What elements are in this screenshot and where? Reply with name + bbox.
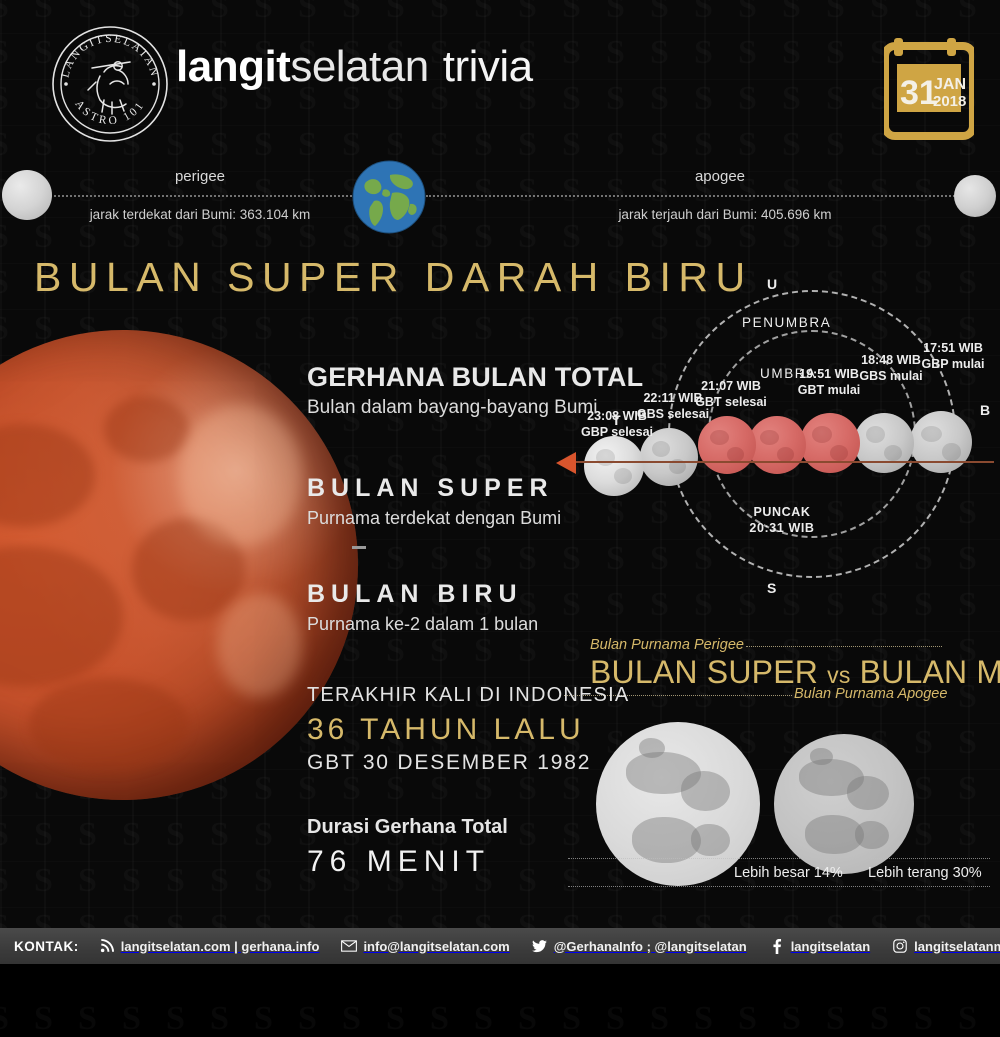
- footer-link-email[interactable]: info@langitselatan.com: [341, 938, 531, 954]
- page-title: BULAN SUPER DARAH BIRU: [34, 254, 753, 301]
- earth-globe-icon: [352, 160, 426, 234]
- caption-lebih-besar: Lebih besar 14%: [734, 865, 843, 881]
- calendar-month: JAN: [934, 76, 966, 93]
- footer-link-twitter[interactable]: @GerhanaInfo ; @langitselatan: [532, 938, 769, 954]
- brand-langit: langit: [176, 42, 290, 91]
- duration-label: Durasi Gerhana Total: [307, 816, 508, 839]
- peak-label: PUNCAK: [734, 504, 830, 520]
- caption-lebih-terang: Lebih terang 30%: [868, 865, 982, 881]
- bullet-bulan-super: BULAN SUPER Purnama terdekat dengan Bumi: [307, 474, 561, 529]
- eclipse-path-diagram: PENUMBRA UMBRA U S T B 23:08 WIB GBP sel…: [556, 268, 1000, 608]
- footer-text-instagram: langitselatanmedia: [914, 939, 1000, 954]
- moon-phase-peak: [748, 416, 806, 474]
- phase-3-event: GBT selesai: [686, 394, 776, 410]
- compass-south: S: [767, 580, 777, 596]
- calendar-year: 2018: [933, 93, 966, 110]
- rss-icon: [99, 938, 115, 954]
- perigee-sublabel: jarak terdekat dari Bumi: 363.104 km: [60, 207, 340, 222]
- footer-text-website: langitselatan.com | gerhana.info: [121, 939, 320, 954]
- phase-6-event: GBP mulai: [908, 356, 998, 372]
- bullet-2-sub: Purnama terdekat dengan Bumi: [307, 508, 561, 529]
- apogee-italic-label: Bulan Purnama Apogee: [794, 686, 947, 702]
- phase-3-time: 21:07 WIB: [686, 378, 776, 394]
- compass-north: U: [767, 276, 778, 292]
- moon-phase-5: [854, 413, 914, 473]
- separator-dash: [352, 546, 366, 549]
- direction-arrow-icon: [556, 452, 576, 474]
- compass-east: B: [980, 402, 991, 418]
- footer-text-twitter: @GerhanaInfo ; @langitselatan: [554, 939, 747, 954]
- last-occurrence-line1: TERAKHIR KALI DI INDONESIA: [307, 684, 629, 707]
- minimoon-illustration: [774, 734, 914, 874]
- last-occurrence-block: TERAKHIR KALI DI INDONESIA 36 TAHUN LALU…: [307, 684, 629, 775]
- bullet-1-heading: GERHANA BULAN TOTAL: [307, 362, 643, 393]
- penumbra-label: PENUMBRA: [742, 315, 831, 330]
- duration-block: Durasi Gerhana Total 76 MENIT: [307, 816, 508, 879]
- bullet-3-heading: BULAN BIRU: [307, 580, 538, 609]
- footer-text-facebook: langitselatan: [791, 939, 870, 954]
- phase-4-event: GBT mulai: [784, 382, 874, 398]
- footer-link-facebook[interactable]: langitselatan: [769, 938, 892, 954]
- dotted-rule-caption-top: [568, 858, 990, 859]
- phase-label-3: 21:07 WIB GBT selesai: [686, 378, 776, 410]
- vs-title-vs: vs: [827, 662, 850, 688]
- bullet-bulan-biru: BULAN BIRU Purnama ke-2 dalam 1 bulan: [307, 580, 538, 635]
- bullet-gerhana-bulan-total: GERHANA BULAN TOTAL Bulan dalam bayang-b…: [307, 362, 643, 419]
- peak-time: 20:31 WIB: [734, 520, 830, 536]
- footer-contact-bar: KONTAK: langitselatan.com | gerhana.info…: [0, 928, 1000, 964]
- last-occurrence-line3: GBT 30 DESEMBER 1982: [307, 751, 629, 775]
- footer-link-website[interactable]: langitselatan.com | gerhana.info: [99, 938, 342, 954]
- dotted-line-left: [34, 195, 352, 197]
- bullet-1-sub: Bulan dalam bayang-bayang Bumi: [307, 397, 643, 419]
- instagram-icon: [892, 938, 908, 954]
- vs-title-mini: BULAN MINI: [860, 654, 1000, 690]
- phase-label-6: 17:51 WIB GBP mulai: [908, 340, 998, 372]
- brand-trivia: trivia: [443, 42, 533, 91]
- twitter-icon: [532, 938, 548, 954]
- calendar-icon: 31 JAN 2018: [884, 34, 974, 140]
- moon-phase-3: [698, 416, 756, 474]
- kontak-label: KONTAK:: [0, 939, 99, 954]
- dotted-line-right: [426, 195, 974, 197]
- brand-title: langitselatantrivia: [176, 42, 533, 92]
- footer-link-instagram[interactable]: langitselatanmedia: [892, 938, 1000, 954]
- facebook-icon: [769, 938, 785, 954]
- envelope-icon: [341, 938, 357, 954]
- peak-label-group: PUNCAK 20:31 WIB: [734, 504, 830, 537]
- phase-6-time: 17:51 WIB: [908, 340, 998, 356]
- header: LANGITSELATAN ASTRO 101 langitselatan: [0, 0, 1000, 150]
- langitselatan-seal-logo: LANGITSELATAN ASTRO 101: [48, 22, 172, 146]
- last-occurrence-line2: 36 TAHUN LALU: [307, 713, 629, 747]
- dotted-rule-top: [746, 646, 942, 647]
- perigee-label: perigee: [140, 168, 260, 185]
- brand-selatan: selatan: [290, 42, 428, 91]
- footer-text-email: info@langitselatan.com: [363, 939, 509, 954]
- perigee-italic-label: Bulan Purnama Perigee: [590, 637, 744, 653]
- apogee-sublabel: jarak terjauh dari Bumi: 405.696 km: [580, 207, 870, 222]
- duration-value: 76 MENIT: [307, 845, 508, 879]
- bullet-2-heading: BULAN SUPER: [307, 474, 561, 503]
- moon-path-line: [570, 461, 994, 463]
- moon-phase-4: [800, 413, 860, 473]
- bullet-3-sub: Purnama ke-2 dalam 1 bulan: [307, 614, 538, 635]
- footer-bottom-spacer: [0, 964, 1000, 1000]
- svg-text:ASTRO 101: ASTRO 101: [72, 98, 147, 127]
- phase-1-event: GBP selesai: [574, 424, 660, 440]
- moon-apogee-icon: [954, 175, 996, 217]
- moon-phase-6: [910, 411, 972, 473]
- apogee-label: apogee: [660, 168, 780, 185]
- perigee-apogee-strip: perigee jarak terdekat dari Bumi: 363.10…: [0, 150, 1000, 240]
- dotted-rule-caption-bottom: [568, 886, 990, 887]
- moon-perigee-icon: [2, 170, 52, 220]
- moon-phase-1: [584, 436, 644, 496]
